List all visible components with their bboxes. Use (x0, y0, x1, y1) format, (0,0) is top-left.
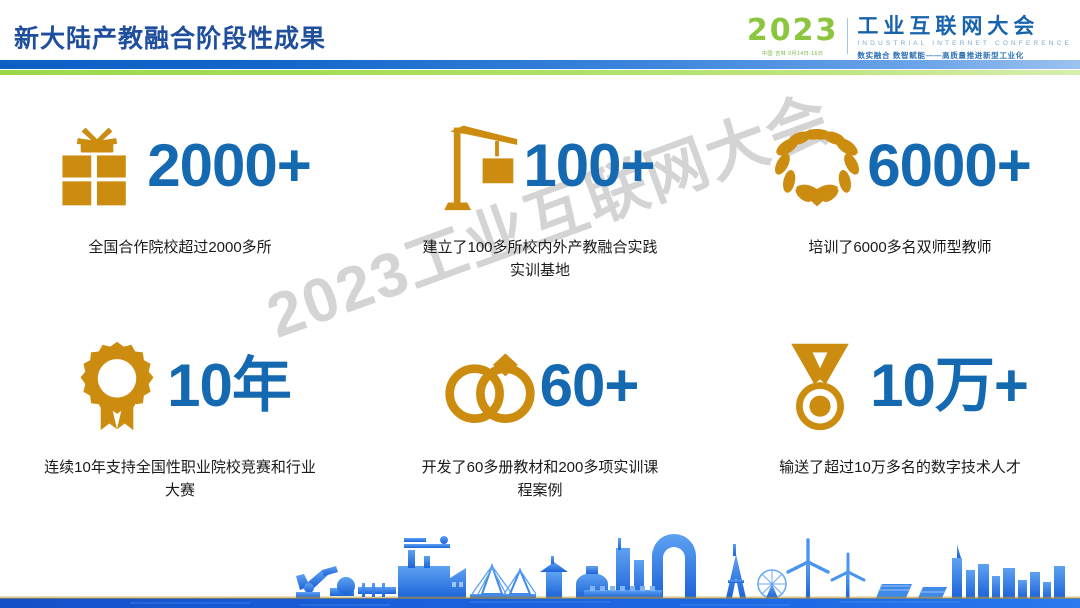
medal-icon (772, 338, 868, 434)
stat-caption: 建立了100多所校内外产教融合实践实训基地 (415, 236, 665, 283)
stat-value: 100+ (523, 136, 654, 196)
logo-text-block: 工业互联网大会 INDUSTRIAL INTERNET CONFERENCE 数… (848, 16, 1072, 61)
stat-headline: 2000+ (49, 110, 311, 222)
stat-value: 2000+ (147, 136, 311, 196)
header-rule-green (0, 70, 1080, 75)
stat-headline: 60+ (442, 330, 639, 442)
logo-name-cn: 工业互联网大会 (857, 16, 1072, 37)
logo-slogan: 数实融合 数智赋能——高质量推进新型工业化 (857, 50, 1072, 61)
stat-card: 2000+ 全国合作院校超过2000多所 (0, 96, 360, 316)
stat-card: 10万+ 输送了超过10万多名的数字技术人才 (720, 316, 1080, 536)
stat-caption: 连续10年支持全国性职业院校竞赛和行业大赛 (40, 456, 320, 503)
slide-header: 新大陆产教融合阶段性成果 2023 中国·吉林 9月14日-16日 工业互联网大… (0, 0, 1080, 90)
stat-value: 10万+ (870, 356, 1028, 416)
statistics-grid: 2000+ 全国合作院校超过2000多所 (0, 96, 1080, 536)
stat-headline: 6000+ (769, 110, 1031, 222)
laurel-wreath-icon (769, 118, 865, 214)
interlocking-rings-icon (442, 338, 538, 434)
stat-caption: 培训了6000多名双师型教师 (808, 236, 991, 259)
tower-crane-icon (425, 118, 521, 214)
logo-year-block: 2023 中国·吉林 9月14日-16日 (747, 16, 848, 57)
conference-logo: 2023 中国·吉林 9月14日-16日 工业互联网大会 INDUSTRIAL … (747, 16, 1072, 61)
stat-caption: 全国合作院校超过2000多所 (88, 236, 271, 259)
stat-value: 60+ (540, 356, 639, 416)
stat-card: 60+ 开发了60多册教材和200多项实训课程案例 (360, 316, 720, 536)
stat-caption: 开发了60多册教材和200多项实训课程案例 (415, 456, 665, 503)
stat-card: 10年 连续10年支持全国性职业院校竞赛和行业大赛 (0, 316, 360, 536)
stat-headline: 10万+ (772, 330, 1028, 442)
logo-name-en: INDUSTRIAL INTERNET CONFERENCE (857, 40, 1072, 47)
logo-year: 2023 (747, 16, 839, 46)
stat-caption: 输送了超过10万多名的数字技术人才 (779, 456, 1021, 479)
stat-headline: 10年 (69, 330, 291, 442)
stat-value: 6000+ (867, 136, 1031, 196)
stat-value: 10年 (167, 356, 291, 416)
logo-date-line: 中国·吉林 9月14日-16日 (747, 50, 839, 57)
header-rule-blue (0, 60, 1080, 69)
stat-card: 100+ 建立了100多所校内外产教融合实践实训基地 (360, 96, 720, 316)
stat-card: 6000+ 培训了6000多名双师型教师 (720, 96, 1080, 316)
gift-box-icon (49, 118, 145, 214)
award-rosette-icon (69, 338, 165, 434)
stat-headline: 100+ (425, 110, 654, 222)
page-title: 新大陆产教融合阶段性成果 (14, 19, 326, 55)
